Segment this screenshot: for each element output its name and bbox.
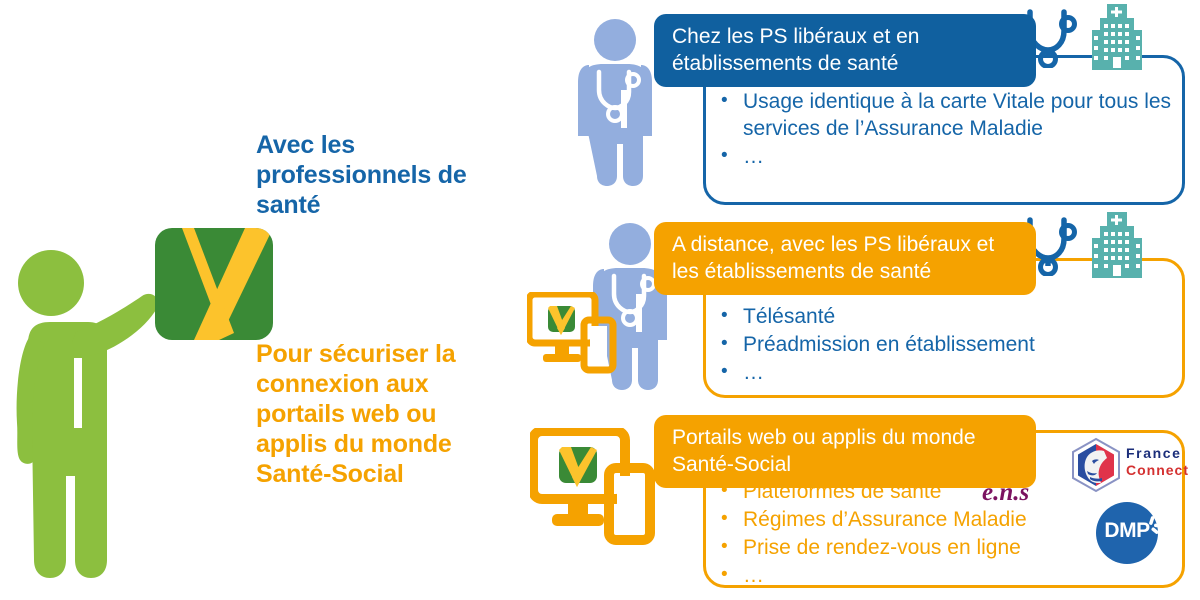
card3-bullet-list: Plateformes de santé Régimes d’Assurance… [713,478,1093,590]
dmp-logo-text: DMP [1096,519,1158,543]
france-connect-mark-icon [1068,437,1124,493]
france-connect-line1: France [1126,445,1189,462]
desktop-and-mobile-icon [527,292,623,376]
hospital-building-icon [1090,2,1144,70]
france-connect-line2: Connect [1126,462,1189,479]
ens-logo-text: e.n.s [982,479,1029,506]
list-item: Régimes d’Assurance Maladie [713,506,1093,533]
list-item: Préadmission en établissement [713,331,1183,358]
desktop-and-mobile-icon [530,428,662,550]
ens-logo: e.n.s [982,479,1029,507]
infographic-canvas: Avec les professionnels de santé Pour sé… [0,0,1200,600]
list-item: Plateformes de santé [713,478,1093,505]
france-connect-wordmark: France Connect [1126,445,1189,479]
list-item: Usage identique à la carte Vitale pour t… [713,88,1183,142]
list-item: … [713,359,1183,386]
blue-doctor-figure-icon [565,18,665,186]
card-header-a-distance: A distance, avec les PS libéraux et les … [654,222,1036,295]
card1-bullet-list: Usage identique à la carte Vitale pour t… [713,88,1183,171]
dmp-logo: DMP [1096,498,1166,568]
list-item: … [713,143,1183,170]
hospital-building-icon [1090,210,1144,278]
card-header-ps-liberaux: Chez les PS libéraux et en établissement… [654,14,1036,87]
france-connect-logo: France Connect [1068,437,1188,493]
list-item: … [713,562,1093,589]
card2-bullet-list: Télésanté Préadmission en établissement … [713,303,1183,387]
list-item: Télésanté [713,303,1183,330]
vitale-v-app-card-icon [155,228,273,340]
left-heading-securiser-connexion: Pour sécuriser la connexion aux portails… [256,339,496,489]
list-item: Prise de rendez-vous en ligne [713,534,1093,561]
left-heading-professionnels-sante: Avec les professionnels de santé [256,130,486,220]
